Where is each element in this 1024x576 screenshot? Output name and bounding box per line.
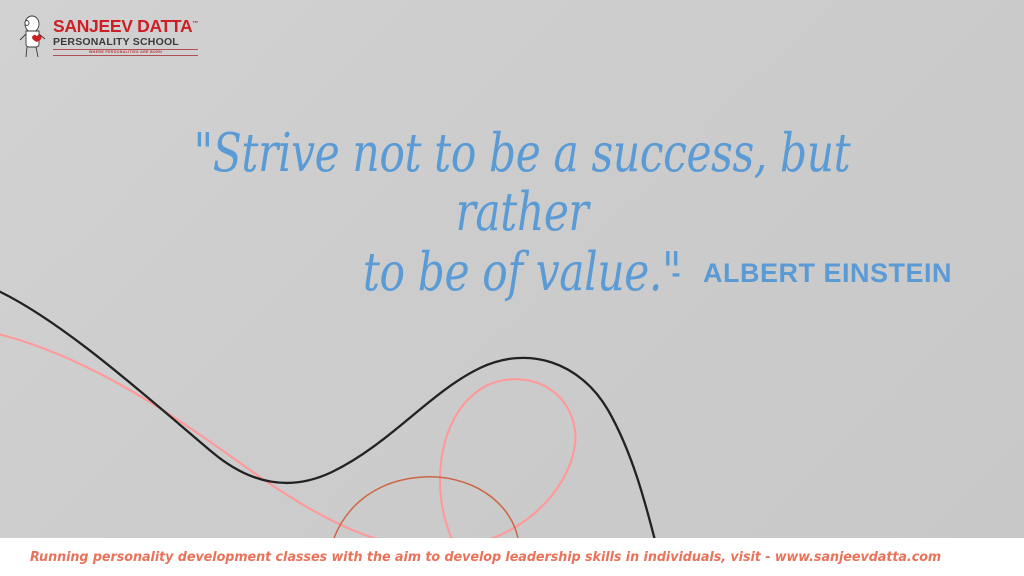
logo-wordmark: SANJEEV DATTA™ PERSONALITY SCHOOL WHERE … [53, 16, 198, 56]
quote-attribution: -ALBERT EINSTEIN [0, 258, 952, 289]
trademark-icon: ™ [192, 21, 198, 27]
logo-brand-name-text: SANJEEV DATTA [53, 16, 192, 36]
brand-logo[interactable]: SANJEEV DATTA™ PERSONALITY SCHOOL WHERE … [18, 13, 168, 59]
logo-tagline: WHERE PERSONALITIES ARE BORN [53, 49, 198, 56]
mascot-icon [18, 14, 50, 58]
footer-text: Running personality development classes … [30, 550, 941, 565]
attribution-author: ALBERT EINSTEIN [703, 258, 952, 288]
logo-subtitle: PERSONALITY SCHOOL [53, 37, 198, 48]
logo-brand-name: SANJEEV DATTA™ [53, 18, 198, 36]
presentation-slide: SANJEEV DATTA™ PERSONALITY SCHOOL WHERE … [0, 0, 1024, 576]
black-decorative-curve [0, 288, 660, 560]
attribution-dash: - [671, 258, 681, 288]
quote-line-1: "Strive not to be a success, but rather [181, 124, 863, 243]
footer-bar: Running personality development classes … [0, 538, 1024, 576]
